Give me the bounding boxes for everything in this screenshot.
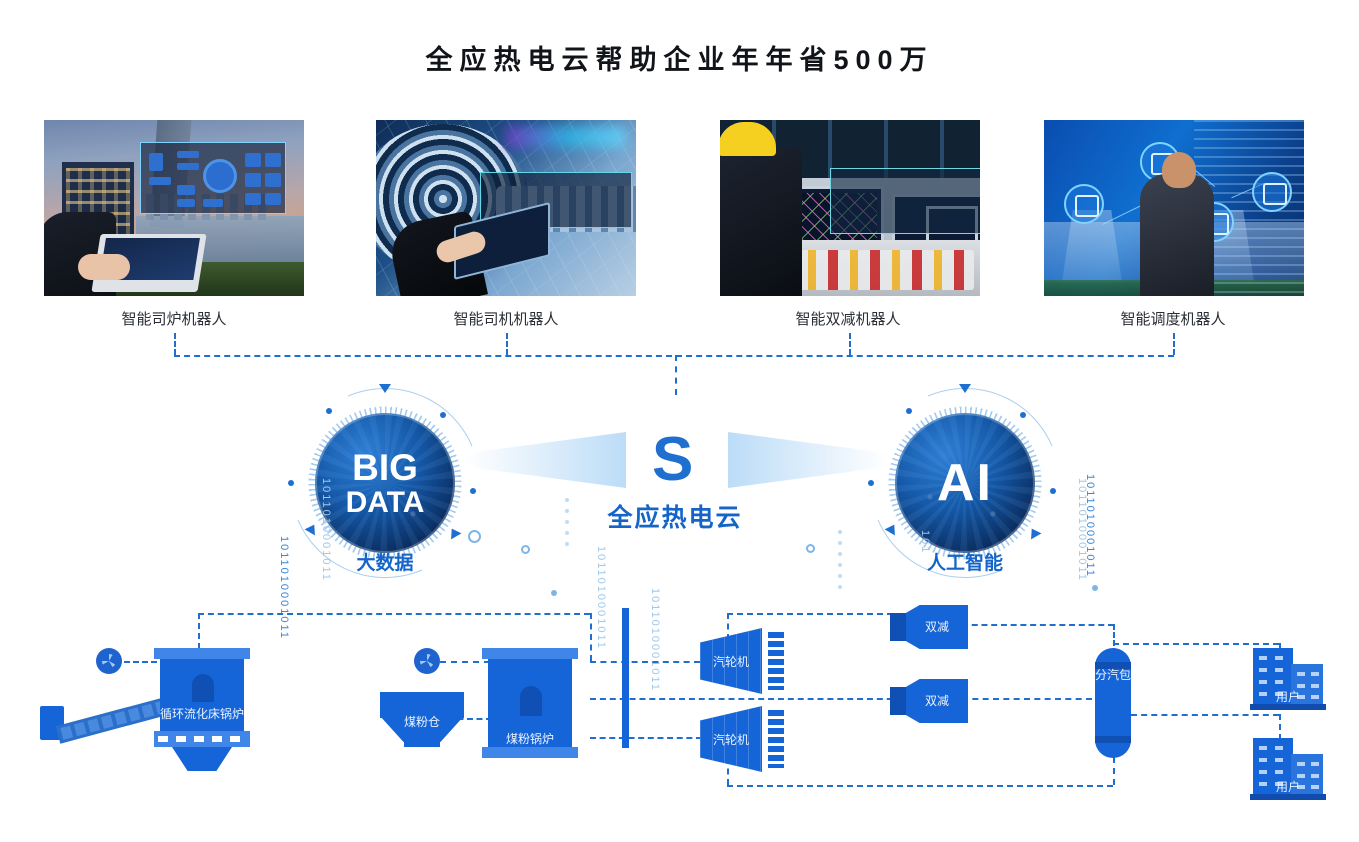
equipment-label-pc-boiler: 煤粉锅炉 <box>486 730 574 747</box>
deco-circle-3 <box>806 544 815 553</box>
page-title: 全应热电云帮助企业年年省500万 <box>0 38 1359 77</box>
binary-column-7: 1011010001011 <box>1083 474 1097 578</box>
equipment-steam-drum <box>1095 648 1131 758</box>
deco-circle-2 <box>521 545 530 554</box>
wire-fan-pcb <box>440 661 490 663</box>
photo4-icon-monitor-search <box>1064 184 1104 224</box>
wire-reducer2-drum <box>962 698 1092 700</box>
robot-caption-1: 智能司炉机器人 <box>64 308 284 329</box>
connector-robot2-drop <box>506 333 508 355</box>
cloud-s-glyph: S <box>652 424 700 484</box>
wire-header-turbine1 <box>590 661 700 663</box>
cfb-fan-icon <box>96 648 122 674</box>
wire-pc-boiler-up <box>590 613 592 661</box>
robot-photo-1[interactable] <box>44 120 304 296</box>
equipment-label-turbine-2: 汽轮机 <box>700 731 762 748</box>
photo4-icon-chart-monitor <box>1252 172 1292 212</box>
equipment-label-user-1: 用户 <box>1253 688 1323 705</box>
bigdata-orb: BIG DATA <box>315 413 455 553</box>
wire-drum-down <box>1113 757 1115 785</box>
binary-column-2: 1011010001011 <box>319 478 333 582</box>
photo3-hud-overlay <box>830 168 980 234</box>
connector-robot-bus <box>174 355 1174 357</box>
steam-header-bar <box>622 608 629 748</box>
equipment-label-reducer-1: 双减 <box>906 618 968 635</box>
equipment-label-user-2: 用户 <box>1253 778 1323 795</box>
connector-robot4-drop <box>1173 333 1175 355</box>
photo4-person-head <box>1162 152 1196 188</box>
deco-dot-column-2 <box>838 530 842 596</box>
photo2-glow <box>506 126 626 148</box>
binary-column-1: 1011010001011 <box>277 536 291 640</box>
ai-line1: AI <box>937 457 993 509</box>
photo1-hud-overlay <box>140 142 286 214</box>
connector-robot3-drop <box>849 333 851 355</box>
pc-fan-icon <box>414 648 440 674</box>
wire-reducer1-out <box>962 624 1114 626</box>
ai-label: 人工智能 <box>865 548 1065 575</box>
connector-cloud-feed <box>675 355 677 395</box>
equipment-label-steam-drum: 分汽包 <box>1095 668 1131 683</box>
binary-column-6: 101 <box>918 530 932 554</box>
robot-caption-3: 智能双减机器人 <box>738 308 958 329</box>
wire-turbine1-reducer1 <box>727 613 903 615</box>
bigdata-label: 大数据 <box>285 548 485 575</box>
wire-header-turbine2 <box>590 737 702 739</box>
wire-drum-user1-h <box>1113 643 1279 645</box>
ai-orb: AI <box>895 413 1035 553</box>
connector-robot1-drop <box>174 333 176 355</box>
equipment-label-cfb-boiler: 循环流化床锅炉 <box>158 705 246 722</box>
deco-dot-2 <box>1092 585 1098 591</box>
equipment-label-reducer-2: 双减 <box>906 692 968 709</box>
beam-cloud-to-ai <box>728 432 888 488</box>
deco-dot-column-1 <box>565 498 569 553</box>
bigdata-line1: BIG <box>352 449 418 486</box>
robot-photo-4[interactable] <box>1044 120 1304 296</box>
binary-column-3: 1011010001011 <box>594 546 608 650</box>
wire-bottom-bus-left <box>198 613 590 615</box>
cloud-name: 全应热电云 <box>555 498 795 534</box>
robot-photo-3[interactable] <box>720 120 980 296</box>
equipment-label-turbine-1: 汽轮机 <box>700 653 762 670</box>
deco-circle-1 <box>468 530 481 543</box>
wire-turbine2-drum <box>727 785 1113 787</box>
robot-photo-2[interactable] <box>376 120 636 296</box>
robot-caption-4: 智能调度机器人 <box>1063 308 1283 329</box>
deco-dot-1 <box>551 590 557 596</box>
equipment-label-coal-bunker: 煤粉仓 <box>380 713 464 730</box>
photo4-person <box>1140 174 1214 296</box>
robot-caption-2: 智能司机机器人 <box>396 308 616 329</box>
photo3-operator <box>720 148 802 296</box>
infographic-canvas: 全应热电云帮助企业年年省500万 <box>0 0 1359 842</box>
wire-drum-user2-h <box>1131 714 1279 716</box>
photo1-hand <box>78 254 130 280</box>
bigdata-line2: DATA <box>346 488 425 518</box>
binary-column-4: 1011010001011 <box>648 588 662 692</box>
